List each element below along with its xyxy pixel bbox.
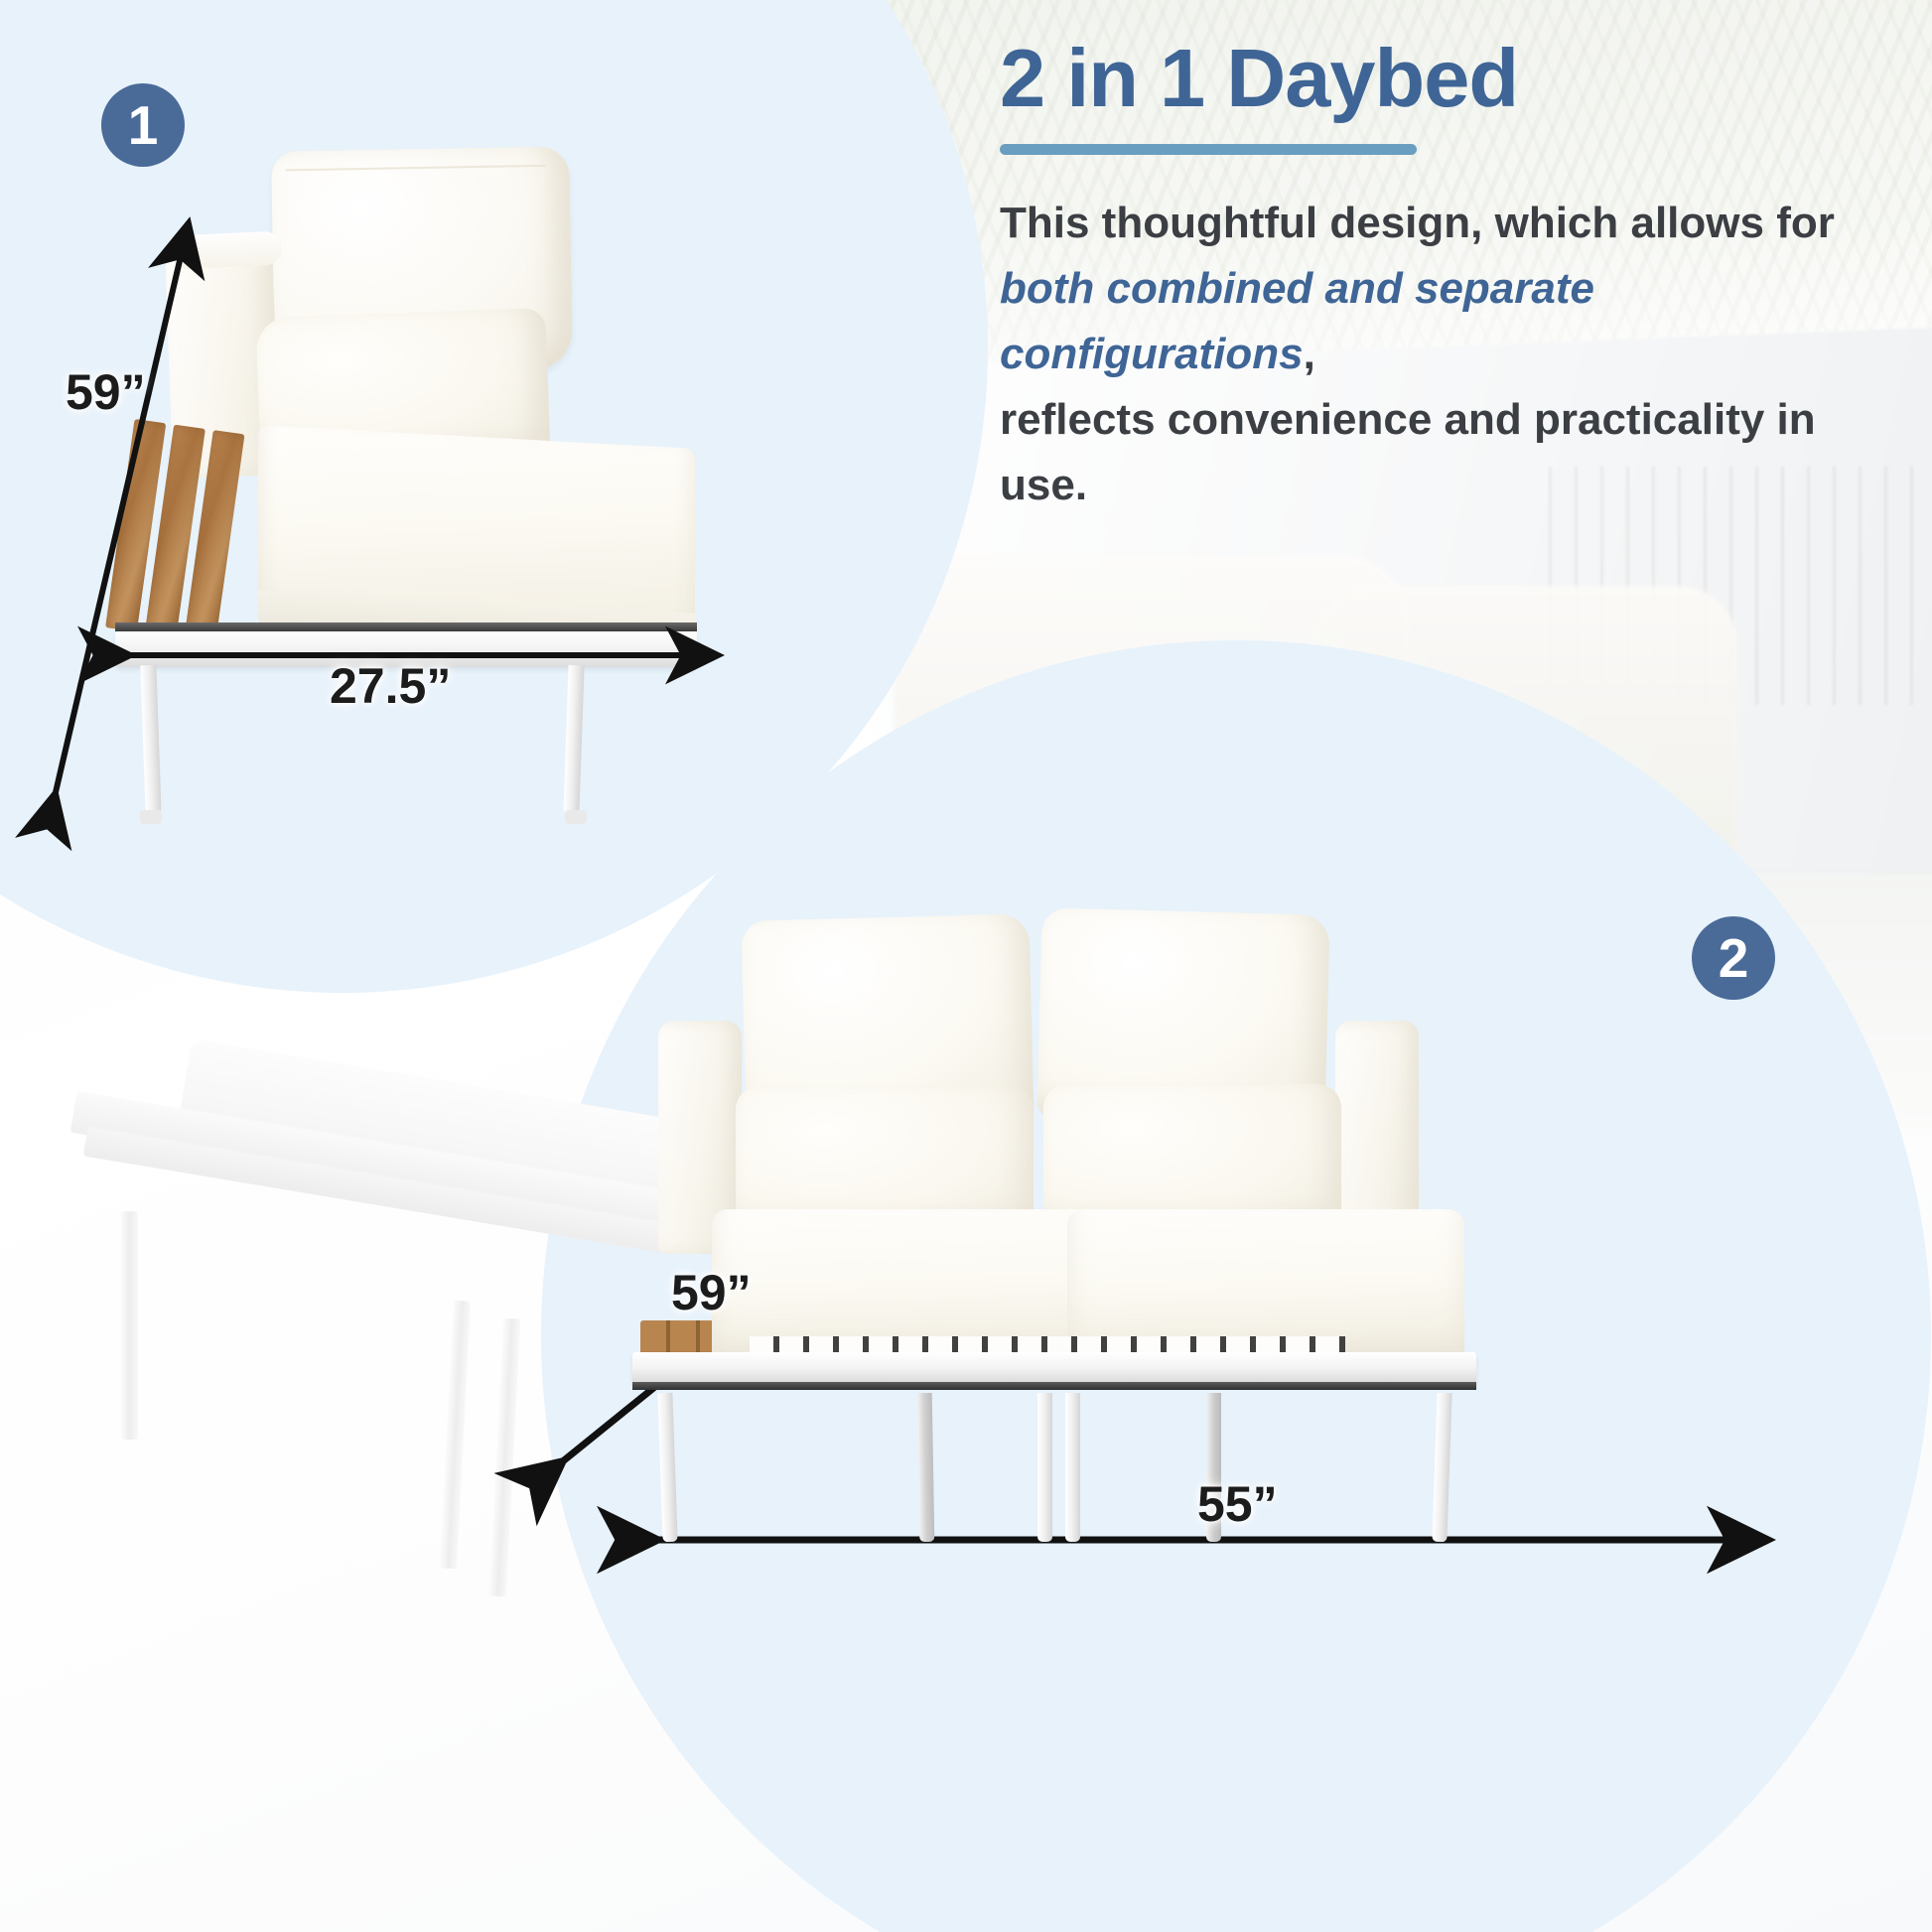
dimension-line-p1-depth (56, 222, 189, 792)
infographic-canvas: 2 in 1 Daybed This thoughtful design, wh… (0, 0, 1932, 1932)
frame-leg (1037, 1393, 1052, 1542)
frame-leg (1065, 1393, 1080, 1542)
frame-shadow (632, 1382, 1476, 1390)
metal-frame-rail (632, 1352, 1476, 1384)
product-image-combined-daybed (650, 894, 1901, 1509)
dimension-label-p1-depth: 59” (66, 363, 146, 421)
dimension-label-p2-width: 55” (1197, 1475, 1278, 1533)
dimension-label-p2-depth: 59” (671, 1264, 752, 1321)
frame-leg (917, 1393, 935, 1542)
dimension-label-p1-width: 27.5” (330, 657, 451, 715)
